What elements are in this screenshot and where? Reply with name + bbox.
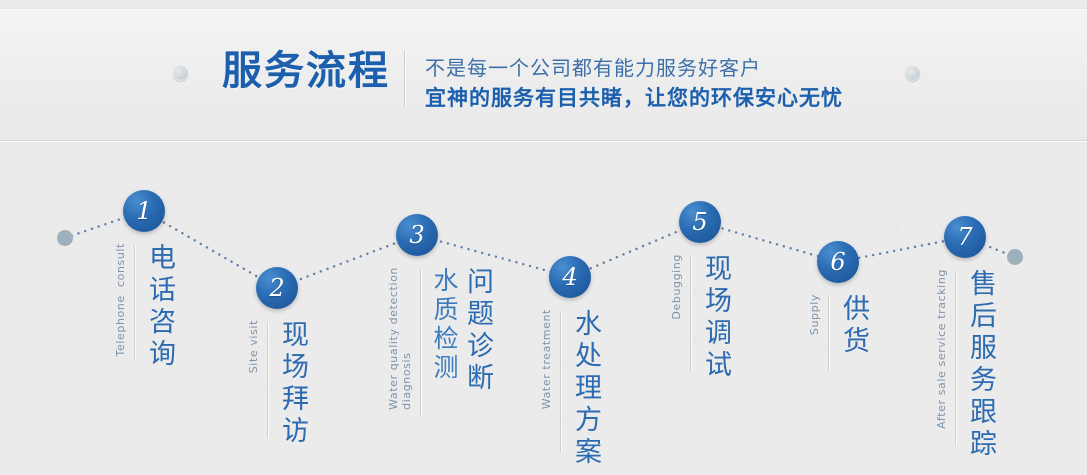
step-label-english: Telephone consult <box>114 243 127 356</box>
step-label-english: After sale service tracking <box>935 269 948 429</box>
step-node-6[interactable]: 6 <box>817 241 859 283</box>
step-number: 2 <box>269 276 284 300</box>
flow-endpoint-dot-start <box>57 230 73 246</box>
process-flow: 1234567 Telephone consult电话咨询Site visit现… <box>0 140 1087 475</box>
step-label-cn-secondary: 水质检测 <box>428 267 460 395</box>
title-divider <box>404 50 405 108</box>
step-label-separator <box>134 245 135 361</box>
step-label-cn-primary: 问题诊断 <box>460 267 494 395</box>
step-label-english: Debugging <box>670 254 683 320</box>
step-label-cn-primary: 售后服务跟踪 <box>963 269 997 461</box>
subtitle-line-2: 宜神的服务有目共睹，让您的环保安心无忧 <box>425 84 843 112</box>
step-label-chinese: 电话咨询 <box>142 243 176 371</box>
step-label-chinese: 现场调试 <box>698 254 732 382</box>
step-label-group-7: After sale service tracking售后服务跟踪 <box>935 269 997 461</box>
step-node-3[interactable]: 3 <box>396 214 438 256</box>
step-label-group-4: Water treatment水处理方案 <box>540 309 602 469</box>
step-number: 7 <box>957 225 972 249</box>
step-label-cn-primary: 电话咨询 <box>142 243 176 371</box>
screw-icon-right <box>905 66 920 81</box>
step-label-separator <box>560 311 561 453</box>
step-number: 5 <box>692 210 707 234</box>
step-label-chinese: 问题诊断水质检测 <box>428 267 494 395</box>
step-label-group-2: Site visit现场拜访 <box>247 320 309 448</box>
service-process-banner: 服务流程 不是每一个公司都有能力服务好客户 宜神的服务有目共睹，让您的环保安心无… <box>0 0 1087 475</box>
step-label-english: Site visit <box>247 320 260 373</box>
step-label-group-1: Telephone consult电话咨询 <box>114 243 176 371</box>
step-label-cn-primary: 现场调试 <box>698 254 732 382</box>
subtitle-line-1: 不是每一个公司都有能力服务好客户 <box>425 55 843 81</box>
step-label-cn-primary: 水处理方案 <box>568 309 602 469</box>
step-number: 6 <box>830 250 845 274</box>
step-number: 4 <box>562 265 577 289</box>
step-label-chinese: 售后服务跟踪 <box>963 269 997 461</box>
step-label-chinese: 水处理方案 <box>568 309 602 469</box>
step-label-chinese: 供货 <box>836 294 870 358</box>
step-label-cn-primary: 现场拜访 <box>275 320 309 448</box>
step-label-separator <box>420 269 421 417</box>
step-node-7[interactable]: 7 <box>944 216 986 258</box>
step-label-group-6: Supply供货 <box>808 294 870 372</box>
subtitle-block: 不是每一个公司都有能力服务好客户 宜神的服务有目共睹，让您的环保安心无忧 <box>425 55 843 112</box>
step-label-english: Water quality detection diagnosis <box>387 267 413 410</box>
step-node-4[interactable]: 4 <box>549 256 591 298</box>
step-label-separator <box>267 322 268 438</box>
step-label-english: Water treatment <box>540 309 553 409</box>
page-title: 服务流程 <box>222 51 390 91</box>
step-label-separator <box>955 271 956 445</box>
step-number: 3 <box>409 223 424 247</box>
step-node-2[interactable]: 2 <box>256 267 298 309</box>
step-node-5[interactable]: 5 <box>679 201 721 243</box>
flow-endpoint-dot-end <box>1007 249 1023 265</box>
step-label-separator <box>690 256 691 372</box>
step-node-1[interactable]: 1 <box>123 190 165 232</box>
step-label-english: Supply <box>808 294 821 335</box>
step-label-group-3: Water quality detection diagnosis问题诊断水质检… <box>387 267 494 417</box>
step-label-cn-primary: 供货 <box>836 294 870 358</box>
screw-icon-left <box>173 66 188 81</box>
step-number: 1 <box>136 199 151 223</box>
step-label-group-5: Debugging现场调试 <box>670 254 732 382</box>
step-label-chinese: 现场拜访 <box>275 320 309 448</box>
step-label-separator <box>828 296 829 372</box>
